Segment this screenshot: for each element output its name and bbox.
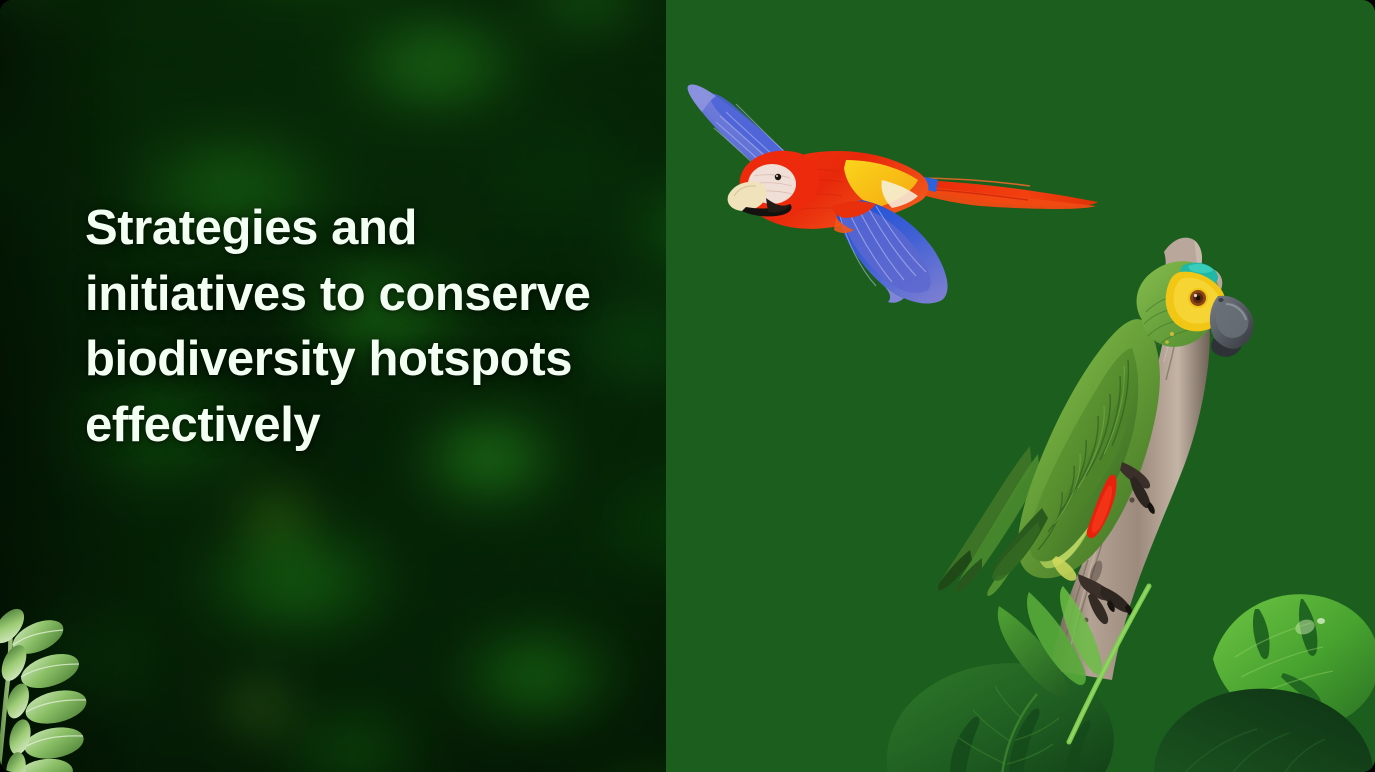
monstera-leaf-bottom-right: [1155, 569, 1375, 772]
presentation-slide: Strategies and initiatives to conserve b…: [0, 0, 1375, 772]
macaw-lower-wing: [832, 200, 948, 304]
page-title: Strategies and initiatives to conserve b…: [85, 196, 615, 459]
leaf-sprig-decoration: [0, 603, 164, 772]
left-image-panel: Strategies and initiatives to conserve b…: [0, 0, 666, 772]
right-image-panel: [666, 0, 1375, 772]
